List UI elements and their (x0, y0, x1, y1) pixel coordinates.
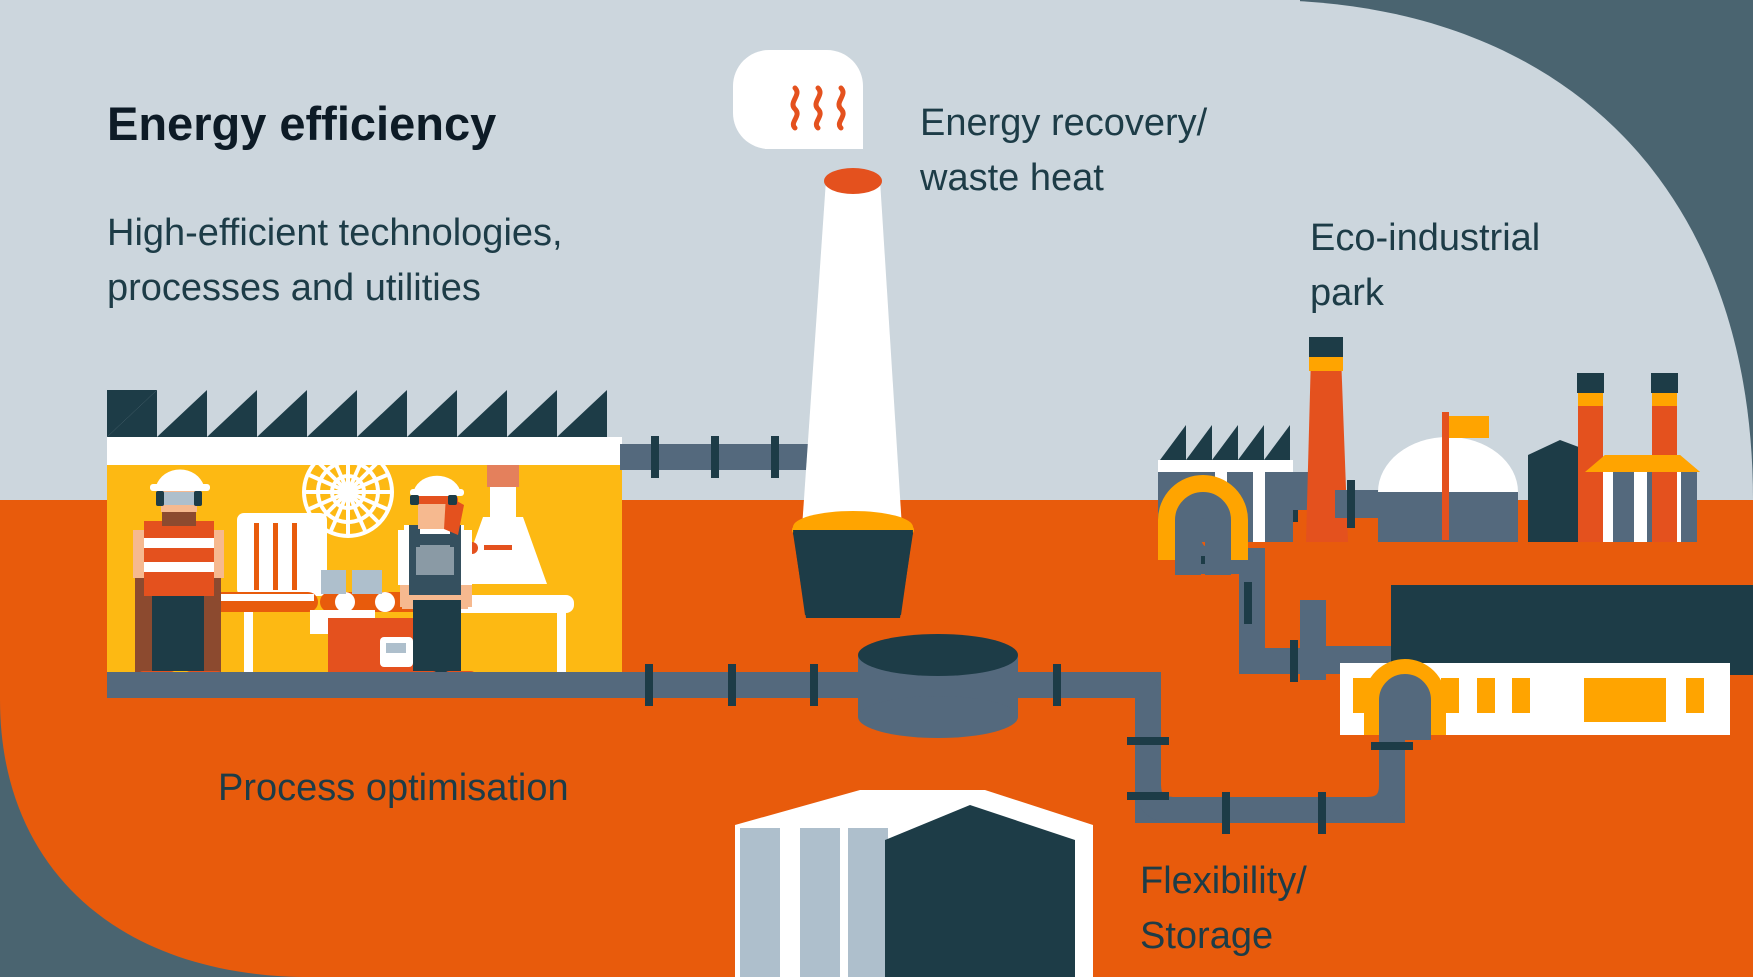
white-window-building (1340, 663, 1730, 740)
heat-waves-icon (733, 50, 863, 149)
factory-floor-joint-1 (645, 664, 653, 706)
subtitle-line-1: High-efficient technologies, (107, 212, 563, 254)
label-flexibility-line-2: Storage (1140, 915, 1273, 957)
subtitle-line-2: processes and utilities (107, 267, 481, 309)
scene-svg: Energy efficiency High-efficient technol… (0, 0, 1753, 977)
label-flexibility-line-1: Flexibility/ (1140, 860, 1307, 902)
park-connector-joint (1347, 480, 1355, 528)
factory-floor-strip (107, 672, 622, 698)
label-process-optimisation: Process optimisation (218, 767, 569, 809)
conveyor-box-1 (321, 570, 346, 594)
buffer-tank (858, 634, 1018, 738)
storage-warehouse-icon (735, 790, 1093, 977)
right-industrial-complex (1340, 585, 1753, 740)
label-energy-recovery-line-2: waste heat (919, 157, 1104, 199)
label-energy-recovery-line-1: Energy recovery/ (920, 102, 1208, 144)
conveyor-box-2 (352, 570, 382, 594)
label-eco-park-line-1: Eco-industrial (1310, 217, 1540, 259)
infographic-canvas: Energy efficiency High-efficient technol… (0, 0, 1753, 977)
dark-block-building (1391, 585, 1753, 675)
page-title: Energy efficiency (107, 97, 496, 150)
manufacturing-plant (107, 390, 622, 689)
label-eco-park-line-2: park (1310, 272, 1385, 314)
